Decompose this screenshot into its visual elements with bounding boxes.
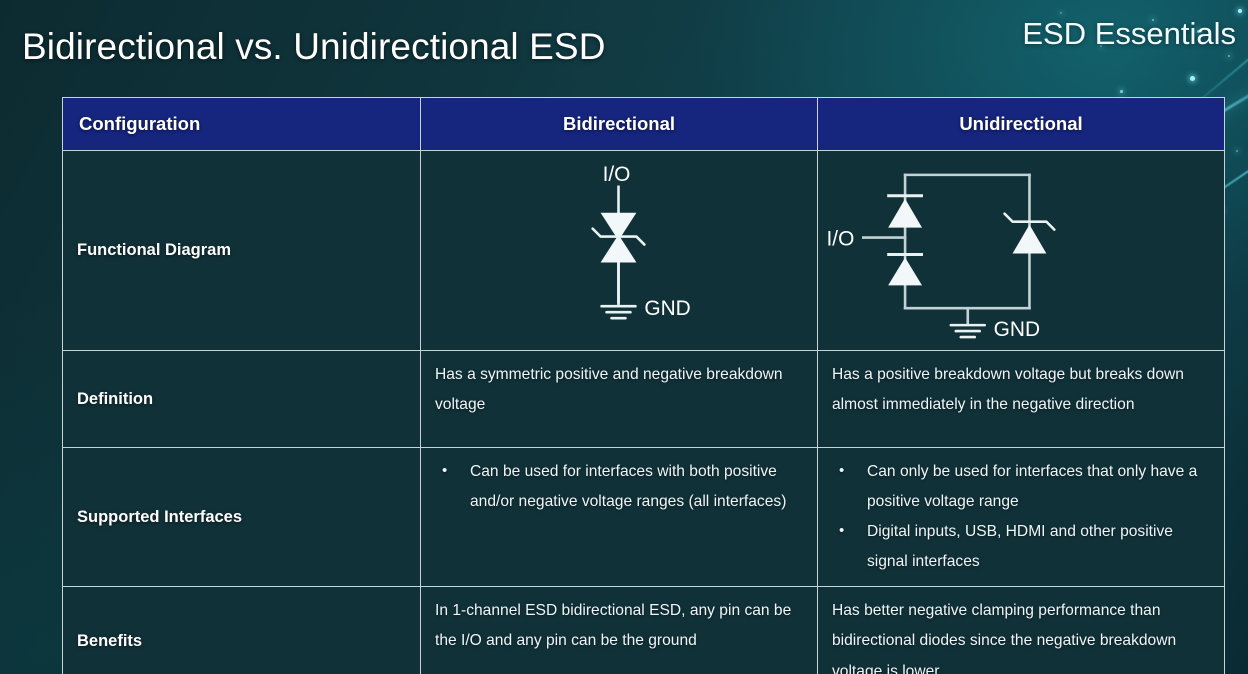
comparison-table: Configuration Bidirectional Unidirection… bbox=[62, 97, 1225, 674]
row-label-supported-interfaces: Supported Interfaces bbox=[63, 448, 421, 587]
cell-interfaces-unidirectional: Can only be used for interfaces that onl… bbox=[818, 448, 1225, 587]
slide-series-label: ESD Essentials bbox=[1022, 16, 1236, 52]
cell-benefits-bidirectional: In 1-channel ESD bidirectional ESD, any … bbox=[421, 587, 818, 674]
particle-dot bbox=[1236, 150, 1238, 152]
list-item: Digital inputs, USB, HDMI and other posi… bbox=[832, 517, 1212, 577]
page-title: Bidirectional vs. Unidirectional ESD bbox=[22, 26, 606, 68]
table-row: Definition Has a symmetric positive and … bbox=[63, 351, 1225, 448]
bidirectional-esd-symbol-icon: I/O GND bbox=[421, 151, 817, 350]
slide-canvas: Bidirectional vs. Unidirectional ESD ESD… bbox=[0, 0, 1248, 674]
list-item: Can be used for interfaces with both pos… bbox=[435, 457, 805, 517]
bullet-list-unidirectional: Can only be used for interfaces that onl… bbox=[832, 457, 1212, 577]
table-row: Supported Interfaces Can be used for int… bbox=[63, 448, 1225, 587]
bullet-list-bidirectional: Can be used for interfaces with both pos… bbox=[435, 457, 805, 517]
column-header-unidirectional: Unidirectional bbox=[818, 98, 1225, 151]
unidirectional-io-label: I/O bbox=[826, 228, 854, 251]
slide-header: Bidirectional vs. Unidirectional ESD ESD… bbox=[0, 0, 1248, 92]
table-row: Benefits In 1-channel ESD bidirectional … bbox=[63, 587, 1225, 674]
list-item: Can only be used for interfaces that onl… bbox=[832, 457, 1212, 517]
table-body: Functional Diagram bbox=[63, 151, 1225, 674]
cell-unidirectional-diagram: I/O GND bbox=[818, 151, 1225, 351]
cell-definition-unidirectional: Has a positive breakdown voltage but bre… bbox=[818, 351, 1225, 448]
cell-interfaces-bidirectional: Can be used for interfaces with both pos… bbox=[421, 448, 818, 587]
row-label-definition: Definition bbox=[63, 351, 421, 448]
column-header-configuration: Configuration bbox=[63, 98, 421, 151]
row-label-functional-diagram: Functional Diagram bbox=[63, 151, 421, 351]
cell-bidirectional-diagram: I/O GND bbox=[421, 151, 818, 351]
cell-benefits-unidirectional: Has better negative clamping performance… bbox=[818, 587, 1225, 674]
cell-definition-bidirectional: Has a symmetric positive and negative br… bbox=[421, 351, 818, 448]
bidirectional-io-label: I/O bbox=[603, 163, 631, 186]
table-row: Functional Diagram bbox=[63, 151, 1225, 351]
row-label-benefits: Benefits bbox=[63, 587, 421, 674]
column-header-bidirectional: Bidirectional bbox=[421, 98, 818, 151]
unidirectional-gnd-label: GND bbox=[994, 318, 1040, 341]
table-header-row: Configuration Bidirectional Unidirection… bbox=[63, 98, 1225, 151]
bidirectional-gnd-label: GND bbox=[644, 297, 690, 320]
unidirectional-esd-symbol-icon: I/O GND bbox=[818, 151, 1224, 350]
table-head: Configuration Bidirectional Unidirection… bbox=[63, 98, 1225, 151]
